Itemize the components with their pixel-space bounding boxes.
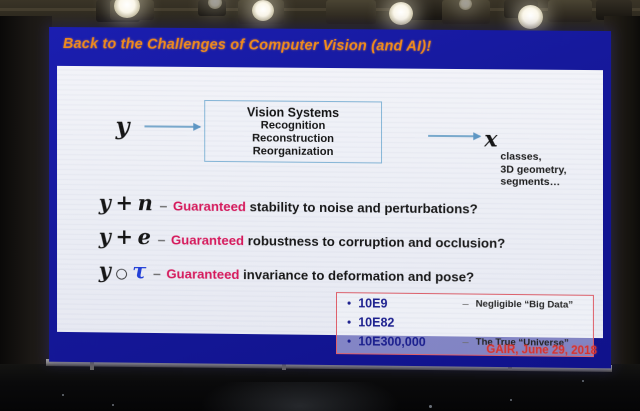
slide-footer-text: GAIR, June 29, 2018 — [486, 344, 597, 357]
slide-title-band: Back to the Challenges of Computer Visio… — [49, 27, 611, 70]
page-title: Back to the Challenges of Computer Visio… — [63, 36, 431, 55]
bullet-icon: • — [347, 316, 351, 328]
bullet-icon: • — [347, 297, 351, 309]
equation-lhs-var: y — [99, 258, 112, 283]
challenge-line-1: y + n – Guaranteed stability to noise an… — [99, 190, 478, 219]
equation-operator: + — [116, 190, 135, 215]
arrow-right-icon — [144, 125, 200, 127]
equation-rhs-var: n — [138, 190, 154, 215]
equation-operator: ○ — [116, 266, 129, 282]
spotlight-icon — [389, 2, 413, 25]
light-speck — [62, 394, 64, 396]
equation-dash: – — [158, 197, 170, 213]
scale-dash: – — [462, 298, 468, 310]
input-symbol-y: y — [116, 111, 130, 140]
output-line-3: segments… — [500, 176, 566, 189]
guaranteed-highlight: Guaranteed — [173, 198, 246, 214]
light-speck — [582, 380, 584, 382]
challenge-line-3: y ○ τ – Guaranteed invariance to deforma… — [99, 258, 474, 287]
output-line-1: classes, — [500, 151, 566, 164]
conference-photo-scene: Back to the Challenges of Computer Visio… — [0, 0, 640, 411]
light-speck — [429, 405, 432, 408]
output-description: classes, 3D geometry, segments… — [500, 151, 566, 189]
light-fixture — [548, 0, 592, 22]
equation-lhs-var: y — [99, 224, 112, 249]
challenge-text: invariance to deformation and pose? — [243, 267, 474, 284]
equation-rhs-var: e — [138, 224, 152, 249]
frame-seam — [90, 362, 94, 370]
equation-lhs-var: y — [99, 190, 112, 215]
challenge-text: robustness to corruption and occlusion? — [248, 233, 505, 251]
scale-value: 10E9 — [358, 296, 462, 311]
spotlight-icon — [518, 5, 543, 29]
floor-glow — [200, 382, 400, 411]
scale-description: Negligible “Big Data” — [476, 299, 574, 311]
equation-operator: + — [116, 224, 135, 249]
guaranteed-highlight: Guaranteed — [171, 232, 244, 248]
wall-left — [0, 16, 52, 411]
equation-dash: – — [151, 265, 163, 281]
challenge-text: stability to noise and perturbations? — [250, 199, 478, 216]
arrow-right-icon — [428, 135, 480, 137]
light-speck — [510, 399, 512, 401]
guaranteed-highlight: Guaranteed — [166, 266, 239, 282]
slide-content-area: y Vision Systems Recognition Reconstruct… — [57, 66, 603, 338]
output-symbol-x: x — [484, 126, 497, 152]
equation-rhs-var: τ — [132, 258, 147, 283]
output-line-2: 3D geometry, — [500, 163, 566, 176]
equation-dash: – — [156, 231, 168, 247]
spotlight-icon — [252, 0, 274, 21]
light-speck — [112, 404, 114, 406]
light-fixture — [326, 0, 376, 24]
challenge-line-2: y + e – Guaranteed robustness to corrupt… — [99, 224, 505, 253]
vision-systems-heading: Vision Systems — [205, 105, 381, 120]
vision-systems-line-3: Reorganization — [205, 145, 381, 160]
projected-slide: Back to the Challenges of Computer Visio… — [49, 27, 611, 368]
vision-systems-box: Vision Systems Recognition Reconstructio… — [204, 100, 382, 164]
scale-value: 10E82 — [358, 315, 462, 330]
